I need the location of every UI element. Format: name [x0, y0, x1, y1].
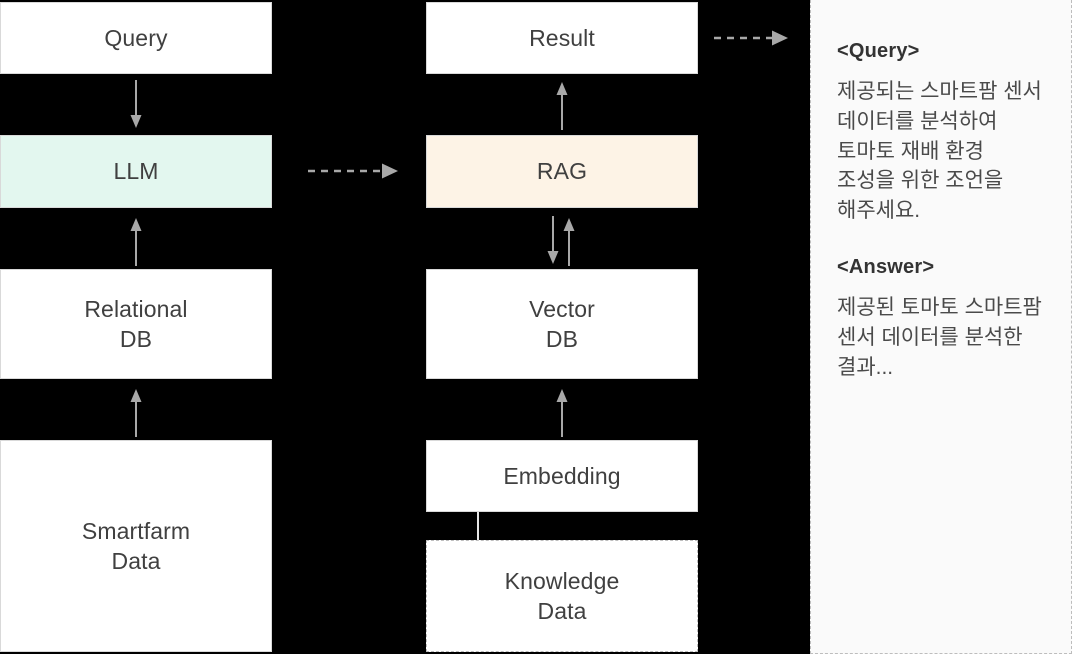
connector-embedding-to-knowledge-data	[477, 512, 479, 540]
query-text: 제공되는 스마트팜 센서 데이터를 분석하여 토마토 재배 환경 조성을 위한 …	[837, 77, 1047, 226]
arrow-llm-to-rag-dashed	[308, 160, 404, 182]
node-result[interactable]: Result	[426, 2, 698, 74]
arrow-rag-to-result	[552, 80, 572, 130]
diagram-canvas: Query LLM Relational DB Smartfarm Data R…	[0, 0, 1072, 654]
arrow-relational-db-to-llm	[126, 216, 146, 266]
node-rag[interactable]: RAG	[426, 135, 698, 208]
arrow-smartfarm-to-relational-db	[126, 387, 146, 437]
query-heading: <Query>	[837, 40, 1047, 63]
arrow-result-to-panel-dashed	[714, 27, 794, 49]
node-query[interactable]: Query	[0, 2, 272, 74]
node-smartfarm-data[interactable]: Smartfarm Data	[0, 440, 272, 652]
answer-heading: <Answer>	[837, 256, 1047, 279]
arrow-query-to-llm	[126, 80, 146, 130]
node-relational-db[interactable]: Relational DB	[0, 269, 272, 379]
node-embedding[interactable]: Embedding	[426, 440, 698, 512]
node-llm[interactable]: LLM	[0, 135, 272, 208]
arrow-embedding-to-vector-db	[552, 387, 572, 437]
node-vector-db[interactable]: Vector DB	[426, 269, 698, 379]
qa-side-panel: <Query> 제공되는 스마트팜 센서 데이터를 분석하여 토마토 재배 환경…	[810, 0, 1072, 654]
answer-text: 제공된 토마토 스마트팜 센서 데이터를 분석한 결과...	[837, 293, 1047, 382]
arrow-rag-vector-db-bidirectional	[540, 216, 584, 266]
node-knowledge-data[interactable]: Knowledge Data	[426, 540, 698, 652]
